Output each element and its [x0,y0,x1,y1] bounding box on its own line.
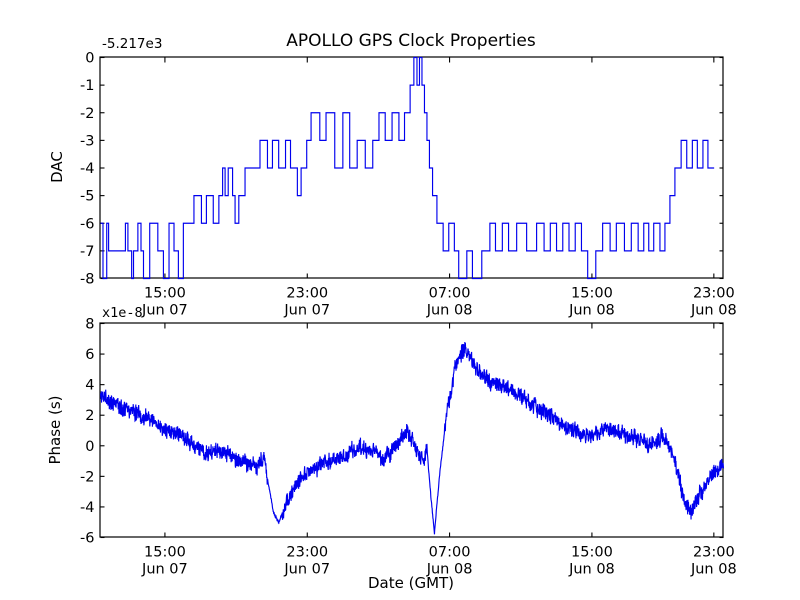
x-tick-label: Jun 07 [141,303,188,319]
matplotlib-figure: APOLLO GPS Clock Properties -5.217e3 0-1… [0,0,800,600]
x-tick-label: Jun 08 [690,562,737,578]
y-tick-label: -2 [80,106,94,122]
y-tick-label: -5 [80,189,94,205]
y-tick-label: 2 [85,408,94,424]
x-tick-label: 15:00 [571,545,613,561]
x-tick-label: 23:00 [286,545,328,561]
x-tick-label: Jun 08 [568,562,615,578]
x-tick-label: Jun 08 [690,303,737,319]
x-tick-label: 23:00 [693,545,735,561]
phase-y-offset-label: x1e-8 [102,305,143,321]
figure-canvas: APOLLO GPS Clock Properties -5.217e3 0-1… [0,0,800,600]
y-tick-label: 6 [85,347,94,363]
x-tick-label: 07:00 [429,286,471,302]
y-tick-label: 0 [85,51,94,67]
y-tick-label: -3 [80,133,94,149]
x-tick-label: Jun 07 [283,303,330,319]
y-tick-label: -8 [80,272,94,288]
y-tick-label: 8 [85,317,94,333]
phase-y-axis-label: Phase (s) [46,395,64,464]
x-tick-label: Jun 08 [426,303,473,319]
x-tick-label: Jun 08 [568,303,615,319]
y-tick-label: -2 [80,469,94,485]
x-tick-label: Jun 07 [141,562,188,578]
y-tick-label: -1 [80,78,94,94]
y-tick-label: -6 [80,531,94,547]
x-tick-label: 15:00 [571,286,613,302]
y-tick-label: -4 [80,161,94,177]
x-tick-label: 23:00 [693,286,735,302]
y-tick-label: -7 [80,244,94,260]
figure-background [0,0,800,600]
x-tick-label: Jun 07 [283,562,330,578]
dac-y-axis-label: DAC [48,151,66,183]
x-tick-label: 23:00 [286,286,328,302]
y-tick-label: 4 [85,378,94,394]
page-title: APOLLO GPS Clock Properties [286,31,536,51]
y-tick-label: 0 [85,439,94,455]
x-tick-label: 15:00 [144,286,186,302]
x-tick-label: 07:00 [429,545,471,561]
y-tick-label: -4 [80,500,94,516]
x-axis-label: Date (GMT) [368,574,454,592]
dac-y-offset-label: -5.217e3 [102,36,162,52]
x-tick-label: 15:00 [144,545,186,561]
y-tick-label: -6 [80,216,94,232]
